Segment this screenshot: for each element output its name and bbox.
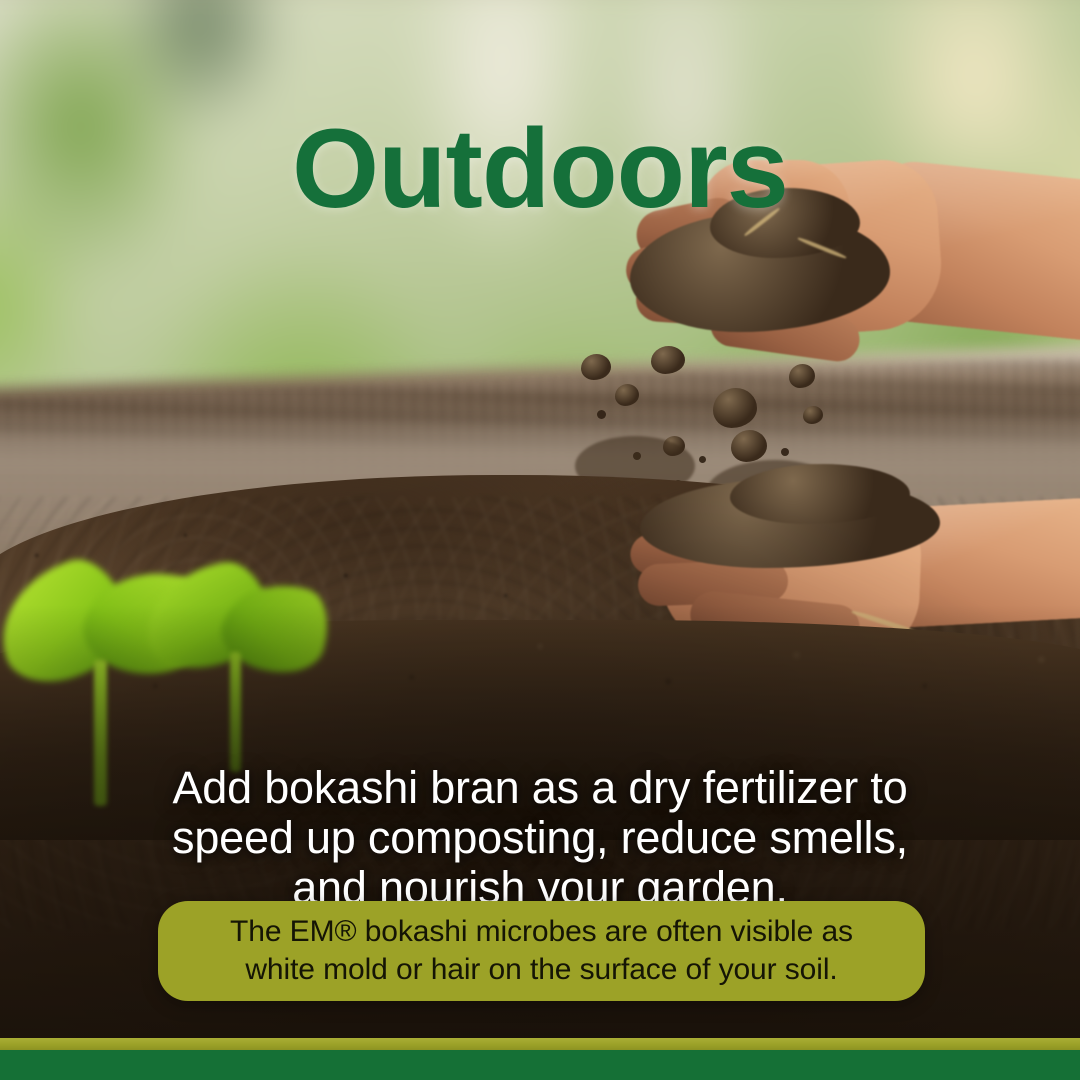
footer-green-bar xyxy=(0,1050,1080,1080)
tip-callout-text: The EM® bokashi microbes are often visib… xyxy=(208,913,875,989)
page-title: Outdoors xyxy=(0,113,1080,225)
tip-callout-box: The EM® bokashi microbes are often visib… xyxy=(158,901,925,1001)
poster-canvas: Outdoors Add bokashi bran as a dry ferti… xyxy=(0,0,1080,1080)
headline-text: Add bokashi bran as a dry fertilizer to … xyxy=(90,763,990,913)
content-layer: Outdoors Add bokashi bran as a dry ferti… xyxy=(0,0,1080,1080)
footer-olive-bar xyxy=(0,1038,1080,1050)
